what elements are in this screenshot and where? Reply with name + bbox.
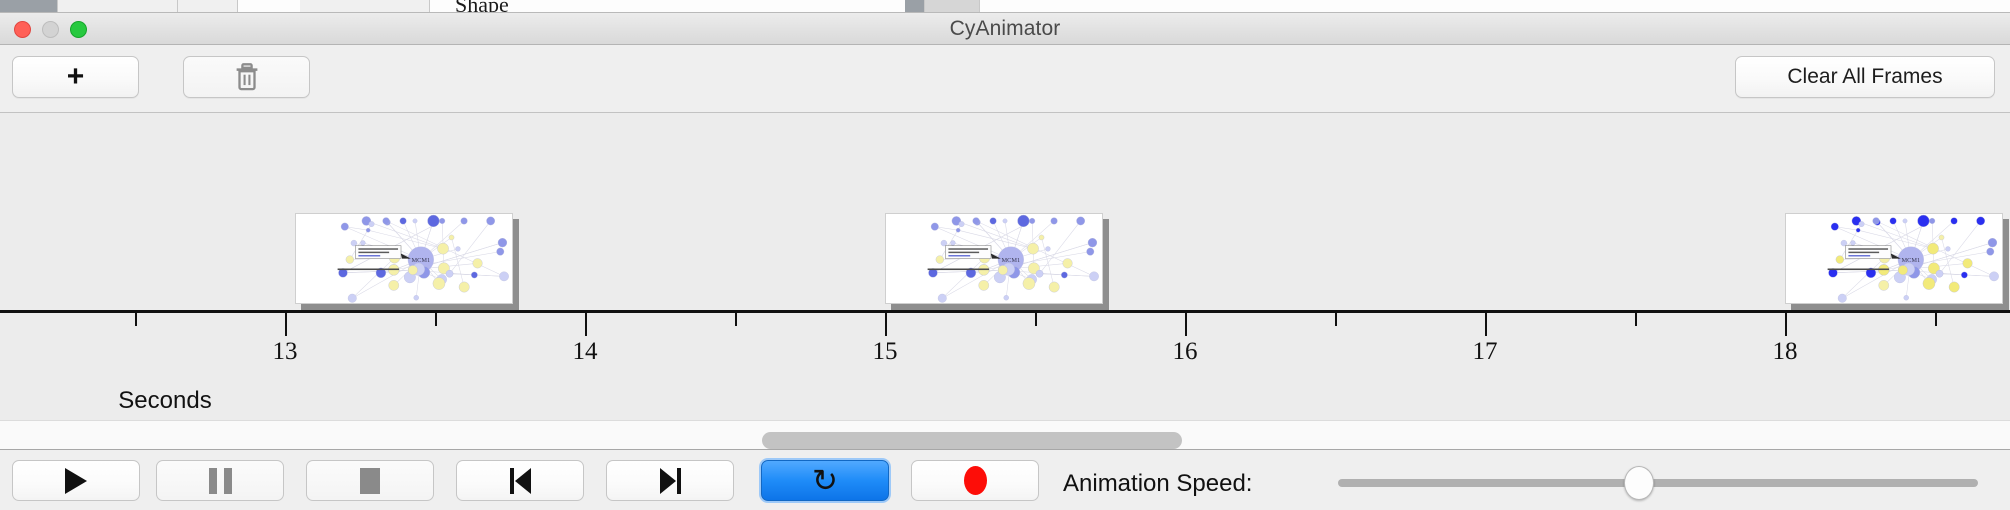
axis-tick-label: 17 bbox=[1473, 338, 1498, 366]
axis-tick-minor bbox=[135, 313, 137, 326]
title-bar: CyAnimator bbox=[0, 13, 2010, 45]
animation-speed-slider[interactable] bbox=[1338, 479, 1978, 487]
slider-knob[interactable] bbox=[1624, 466, 1654, 500]
background-tab bbox=[905, 0, 925, 13]
axis-tick-minor bbox=[435, 313, 437, 326]
playback-control-bar: ↻ Animation Speed: bbox=[0, 450, 2010, 510]
timeline-frame[interactable]: MCM1 bbox=[295, 213, 519, 310]
play-icon bbox=[65, 468, 87, 494]
axis-tick-minor bbox=[1335, 313, 1337, 326]
svg-text:MCM1: MCM1 bbox=[1902, 257, 1921, 264]
window-controls bbox=[14, 21, 87, 38]
slider-track[interactable] bbox=[1338, 479, 1978, 487]
add-frame-button[interactable]: + bbox=[12, 56, 139, 98]
trash-icon bbox=[233, 62, 261, 92]
pause-icon bbox=[209, 468, 232, 494]
plus-icon: + bbox=[67, 62, 85, 92]
axis-tick-label: 15 bbox=[873, 338, 898, 366]
axis-tick-minor bbox=[735, 313, 737, 326]
background-tab bbox=[58, 0, 178, 13]
axis-tick-major bbox=[885, 313, 887, 336]
network-graph: MCM1 bbox=[886, 214, 1102, 304]
scrollbar-thumb[interactable] bbox=[762, 432, 1182, 449]
svg-text:MCM1: MCM1 bbox=[1002, 257, 1021, 264]
maximize-button[interactable] bbox=[70, 21, 87, 38]
background-window-strip: Shape bbox=[0, 0, 2010, 13]
toolbar: + Clear All Frames bbox=[0, 45, 2010, 113]
svg-text:MCM1: MCM1 bbox=[412, 257, 431, 264]
timeline-scrollbar[interactable] bbox=[0, 420, 2010, 450]
frame-thumbnail[interactable]: MCM1 bbox=[295, 213, 513, 304]
network-graph: MCM1 bbox=[296, 214, 512, 304]
axis-tick-minor bbox=[1935, 313, 1937, 326]
axis-tick-major bbox=[1485, 313, 1487, 336]
record-button[interactable] bbox=[911, 460, 1039, 501]
animation-speed-label: Animation Speed: bbox=[1063, 470, 1252, 498]
axis-tick-major bbox=[285, 313, 287, 336]
skip-to-start-button[interactable] bbox=[456, 460, 584, 501]
axis-tick-label: 16 bbox=[1173, 338, 1198, 366]
network-graph: MCM1 bbox=[1786, 214, 2002, 304]
loop-button[interactable]: ↻ bbox=[761, 460, 889, 501]
axis-tick-minor bbox=[1035, 313, 1037, 326]
skip-to-end-button[interactable] bbox=[606, 460, 734, 501]
scrollbar-track[interactable] bbox=[0, 427, 2010, 444]
axis-tick-minor bbox=[1635, 313, 1637, 326]
minimize-button[interactable] bbox=[42, 21, 59, 38]
clear-all-frames-label: Clear All Frames bbox=[1787, 65, 1942, 89]
background-tab bbox=[300, 0, 430, 13]
background-window-label: Shape bbox=[455, 0, 509, 13]
timeline-axis: Seconds 12131415161718 bbox=[0, 310, 2010, 420]
timeline-canvas[interactable]: MCM1MCM1MCM1 bbox=[0, 113, 2010, 310]
skip-to-start-icon bbox=[510, 468, 531, 494]
delete-frame-button[interactable] bbox=[183, 56, 310, 98]
loop-icon: ↻ bbox=[812, 465, 838, 496]
axis-tick-label: 18 bbox=[1773, 338, 1798, 366]
stop-button[interactable] bbox=[306, 460, 434, 501]
pause-button[interactable] bbox=[156, 460, 284, 501]
axis-label: Seconds bbox=[0, 387, 2010, 415]
clear-all-frames-button[interactable]: Clear All Frames bbox=[1735, 56, 1995, 98]
window-title: CyAnimator bbox=[950, 17, 1061, 41]
timeline-frame[interactable]: MCM1 bbox=[1785, 213, 2009, 310]
background-tab bbox=[178, 0, 238, 13]
stop-icon bbox=[360, 468, 380, 494]
axis-tick-label: 13 bbox=[273, 338, 298, 366]
frame-thumbnail[interactable]: MCM1 bbox=[1785, 213, 2003, 304]
axis-tick-major bbox=[1785, 313, 1787, 336]
background-tab bbox=[0, 0, 58, 13]
axis-tick-major bbox=[585, 313, 587, 336]
timeline-frame[interactable]: MCM1 bbox=[885, 213, 1109, 310]
record-icon bbox=[964, 466, 987, 495]
frame-thumbnail[interactable]: MCM1 bbox=[885, 213, 1103, 304]
axis-tick-major bbox=[1185, 313, 1187, 336]
cyanimator-window: Shape CyAnimator + Clear All Frames bbox=[0, 0, 2010, 510]
play-button[interactable] bbox=[12, 460, 140, 501]
close-button[interactable] bbox=[14, 21, 31, 38]
background-tab bbox=[925, 0, 980, 13]
axis-tick-label: 14 bbox=[573, 338, 598, 366]
axis-line bbox=[0, 310, 2010, 313]
skip-to-end-icon bbox=[660, 468, 681, 494]
